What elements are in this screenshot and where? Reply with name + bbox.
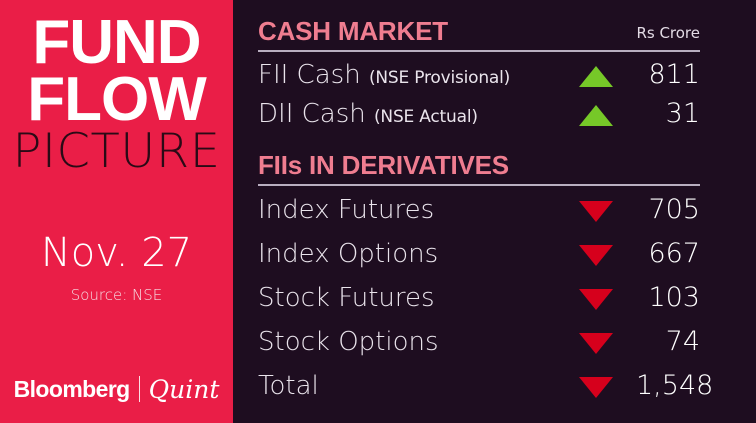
row-label-dii-cash: DII Cash (NSE Actual) bbox=[258, 95, 478, 136]
brand-panel: FUND FLOW PICTURE Nov. 27 Source: NSE Bl… bbox=[0, 0, 233, 423]
row-label-text: FII Cash bbox=[258, 60, 361, 90]
unit-label-rs-crore: Rs Crore bbox=[636, 26, 700, 44]
triangle-down-icon bbox=[579, 245, 613, 266]
row-label-total: Total bbox=[258, 367, 319, 405]
section-rule-fiis-derivatives bbox=[258, 184, 700, 186]
date-label: Nov. 27 bbox=[0, 233, 233, 273]
section-title-cash-market: CASH MARKET bbox=[258, 18, 448, 44]
title-line-flow: FLOW bbox=[0, 71, 233, 128]
section-rule-cash-market bbox=[258, 50, 700, 52]
row-value-stock-futures: 103 bbox=[636, 279, 700, 317]
triangle-down-icon bbox=[579, 333, 613, 354]
table-row: Index Options 667 bbox=[258, 235, 700, 273]
row-qualifier-text: (NSE Actual) bbox=[374, 107, 478, 127]
title-line-picture: PICTURE bbox=[0, 128, 233, 176]
row-value-index-futures: 705 bbox=[636, 191, 700, 229]
row-label-stock-futures: Stock Futures bbox=[258, 279, 435, 317]
row-value-index-options: 667 bbox=[636, 235, 700, 273]
section-header-cash-market: CASH MARKET Rs Crore bbox=[258, 18, 700, 44]
bloombergquint-logo: Bloomberg Quint bbox=[0, 376, 233, 402]
row-value-dii-cash: 31 bbox=[636, 95, 700, 133]
row-label-text: DII Cash bbox=[258, 99, 366, 129]
row-qualifier-text: (NSE Provisional) bbox=[369, 68, 510, 88]
logo-bloomberg-text: Bloomberg bbox=[14, 378, 130, 401]
section-title-fiis-derivatives: FIIs IN DERIVATIVES bbox=[258, 152, 509, 178]
triangle-down-icon bbox=[579, 377, 613, 398]
row-label-index-futures: Index Futures bbox=[258, 191, 434, 229]
data-panel: CASH MARKET Rs Crore FII Cash (NSE Provi… bbox=[233, 0, 756, 423]
table-row: FII Cash (NSE Provisional) 811 bbox=[258, 56, 700, 94]
source-label: Source: NSE bbox=[0, 288, 233, 303]
table-row: Stock Options 74 bbox=[258, 323, 700, 361]
table-row: Stock Futures 103 bbox=[258, 279, 700, 317]
row-label-index-options: Index Options bbox=[258, 235, 438, 273]
triangle-up-icon bbox=[579, 105, 613, 126]
logo-quint-text: Quint bbox=[149, 377, 220, 402]
row-value-total: 1,548 bbox=[636, 367, 700, 405]
triangle-down-icon bbox=[579, 201, 613, 222]
row-value-fii-cash: 811 bbox=[636, 56, 700, 94]
page-title: FUND FLOW PICTURE bbox=[0, 14, 233, 176]
logo-separator bbox=[139, 376, 140, 402]
title-line-fund: FUND bbox=[0, 14, 233, 71]
row-label-fii-cash: FII Cash (NSE Provisional) bbox=[258, 56, 510, 97]
triangle-up-icon bbox=[579, 66, 613, 87]
fund-flow-infographic: FUND FLOW PICTURE Nov. 27 Source: NSE Bl… bbox=[0, 0, 756, 423]
row-value-stock-options: 74 bbox=[636, 323, 700, 361]
triangle-down-icon bbox=[579, 289, 613, 310]
table-row: DII Cash (NSE Actual) 31 bbox=[258, 95, 700, 133]
row-label-stock-options: Stock Options bbox=[258, 323, 439, 361]
table-row: Total 1,548 bbox=[258, 367, 700, 405]
table-row: Index Futures 705 bbox=[258, 191, 700, 229]
section-header-fiis-derivatives: FIIs IN DERIVATIVES bbox=[258, 152, 700, 178]
